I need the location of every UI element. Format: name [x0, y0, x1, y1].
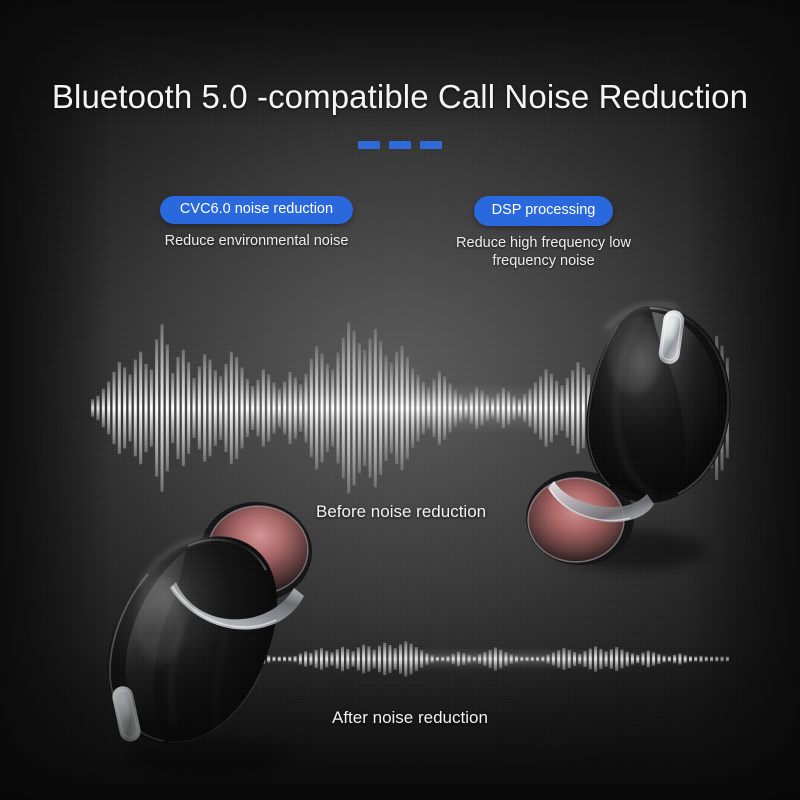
caption-cvc: Reduce environmental noise: [165, 232, 349, 250]
dash-icon: [358, 141, 380, 149]
label-after-noise-reduction: After noise reduction: [332, 708, 488, 728]
label-before-noise-reduction: Before noise reduction: [316, 502, 486, 522]
blue-dashes-divider: [0, 141, 800, 149]
badge-cvc-noise-reduction: CVC6.0 noise reduction: [160, 196, 353, 224]
dash-icon: [389, 141, 411, 149]
product-marketing-image: Bluetooth 5.0 -compatible Call Noise Red…: [0, 0, 800, 800]
caption-dsp: Reduce high frequency low frequency nois…: [429, 234, 659, 270]
feature-cvc: CVC6.0 noise reduction Reduce environmen…: [134, 196, 379, 270]
background-gradient: [0, 0, 800, 800]
feature-badges: CVC6.0 noise reduction Reduce environmen…: [0, 196, 800, 270]
feature-dsp: DSP processing Reduce high frequency low…: [421, 196, 666, 270]
page-title: Bluetooth 5.0 -compatible Call Noise Red…: [0, 78, 800, 116]
dash-icon: [420, 141, 442, 149]
badge-dsp-processing: DSP processing: [474, 196, 614, 226]
